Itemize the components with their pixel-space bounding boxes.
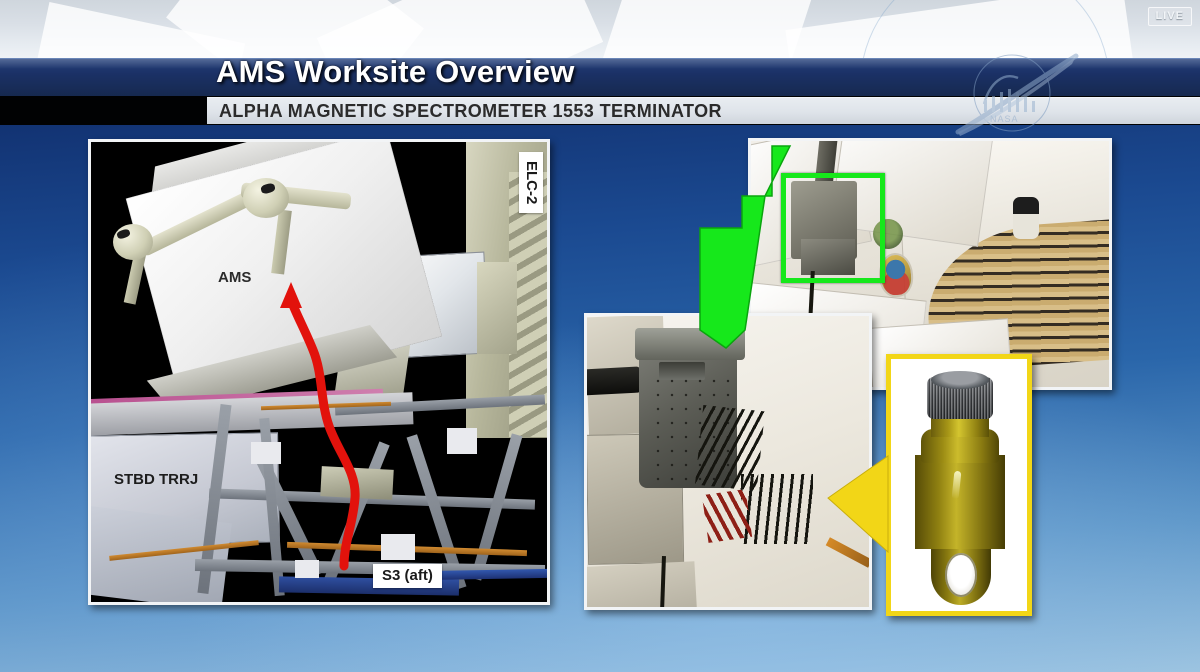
connector-lanyard-hole xyxy=(945,553,977,597)
mechanism-closeup-canvas xyxy=(587,316,869,607)
mechanism-lower-housing xyxy=(585,561,700,610)
handrail-fitting xyxy=(1013,197,1039,239)
mechanism-top-cap xyxy=(635,328,745,360)
red-cable-bundle xyxy=(702,489,752,543)
label-elc-2: ELC-2 xyxy=(519,152,543,213)
label-s3-aft: S3 (aft) xyxy=(373,564,442,588)
page-title: AMS Worksite Overview xyxy=(216,54,575,90)
connector-cap-top xyxy=(931,371,989,389)
worksite-overview-image: AMS STBD TRRJ S3 (aft) ELC-2 xyxy=(88,139,550,605)
broadcast-screen: LIVE AMS Worksite Overview ALPHA MAGNETI… xyxy=(0,0,1200,672)
header-top-strip xyxy=(0,0,1200,58)
title-band xyxy=(0,58,1200,96)
connector-barrel xyxy=(915,455,1005,549)
alignment-tube xyxy=(584,366,642,395)
mechanism-closeup-image xyxy=(584,313,872,610)
label-ams: AMS xyxy=(209,266,260,290)
subtitle-plate: ALPHA MAGNETIC SPECTROMETER 1553 TERMINA… xyxy=(207,97,1200,124)
connector-inset-image xyxy=(886,354,1032,616)
orange-cable xyxy=(826,537,872,567)
subtitle-text: ALPHA MAGNETIC SPECTROMETER 1553 TERMINA… xyxy=(219,101,722,122)
live-badge: LIVE xyxy=(1148,7,1192,26)
globe-outline xyxy=(860,0,1110,58)
label-stbd-trrj: STBD TRRJ xyxy=(105,468,207,492)
connector-inset-canvas xyxy=(891,359,1027,611)
red-route-arrow xyxy=(91,142,547,602)
worksite-overview-canvas: AMS STBD TRRJ S3 (aft) ELC-2 xyxy=(91,142,547,602)
green-highlight-box xyxy=(781,173,885,283)
title-band-sheen xyxy=(0,59,1200,69)
